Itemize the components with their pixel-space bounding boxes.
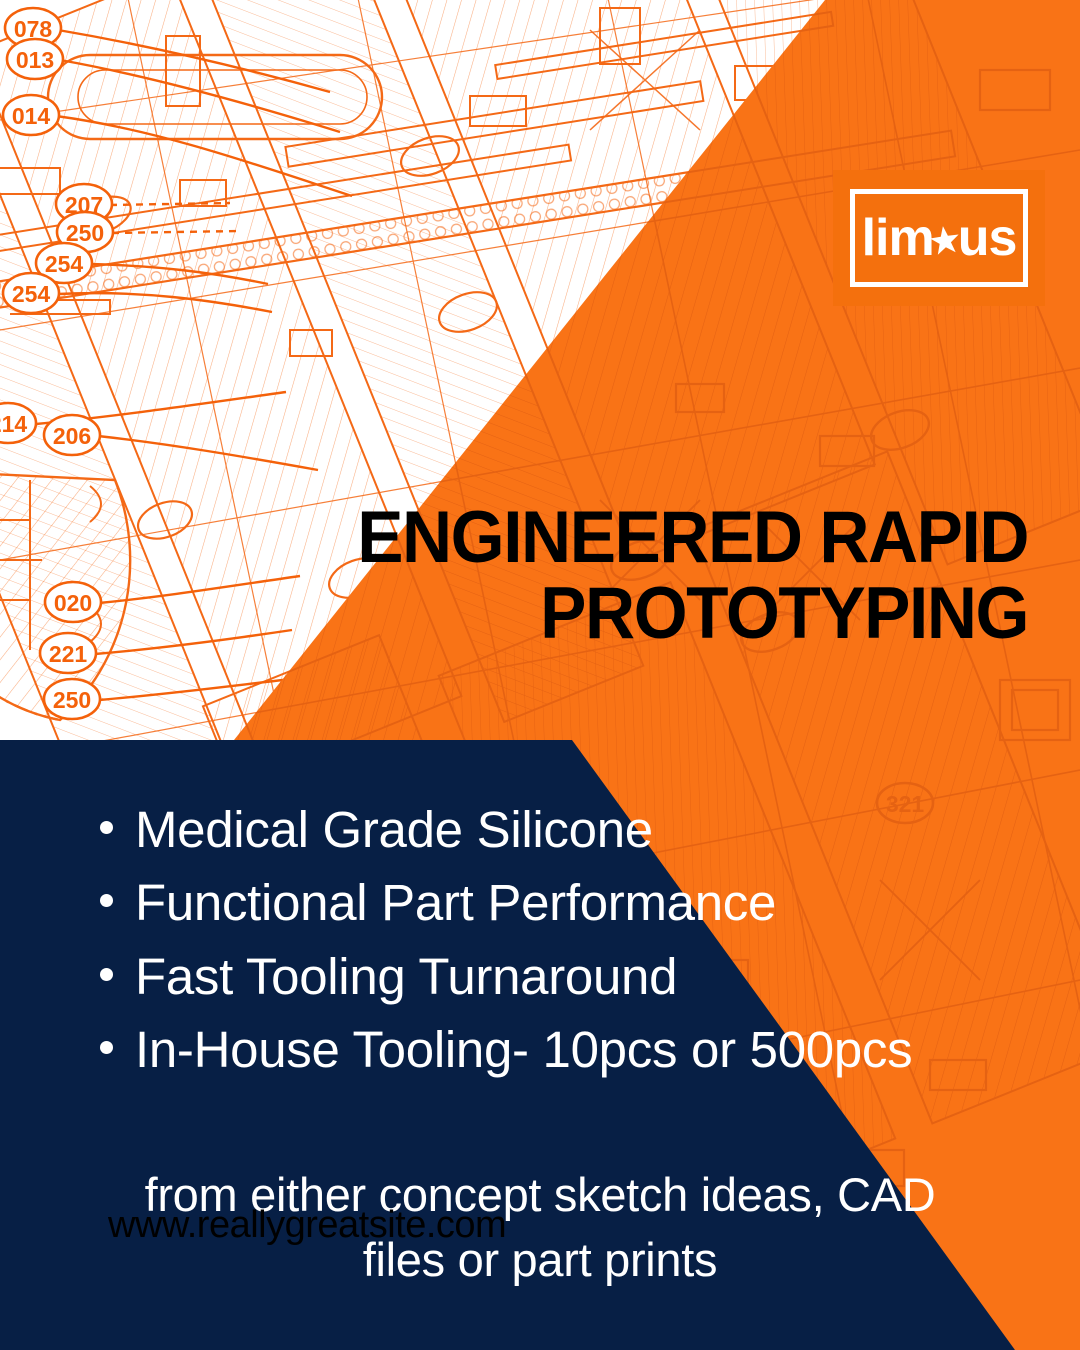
feature-list: Medical Grade Silicone Functional Part P… — [100, 793, 1060, 1087]
callout-label: 207 — [65, 192, 103, 218]
list-item: Medical Grade Silicone — [100, 793, 1060, 866]
list-item-label: Medical Grade Silicone — [135, 793, 653, 866]
callout-label: 206 — [53, 423, 91, 449]
logo-text-us: us — [958, 212, 1017, 264]
callout-label: 013 — [16, 47, 54, 73]
poster-canvas: 078 013 014 207 250 254 254 214 206 020 … — [0, 0, 1080, 1350]
logo-wordmark: lim us — [862, 212, 1017, 264]
callout-label: 214 — [0, 411, 27, 437]
logo-frame: lim us — [850, 189, 1028, 287]
website-url[interactable]: www.reallygreatsite.com — [108, 1206, 506, 1244]
callout-label: 221 — [49, 641, 88, 667]
callout-label: 020 — [54, 590, 92, 616]
logo-text-lim: lim — [862, 212, 934, 264]
callout-label: 250 — [53, 687, 91, 713]
brand-logo[interactable]: lim us — [833, 170, 1045, 306]
headline-line-2: PROTOTYPING — [336, 576, 1028, 652]
list-item: Fast Tooling Turnaround — [100, 940, 1060, 1013]
bullet-dot-icon — [100, 1041, 113, 1054]
callout-label: 014 — [12, 103, 51, 129]
bullet-dot-icon — [100, 894, 113, 907]
list-item: In-House Tooling- 10pcs or 500pcs — [100, 1013, 1060, 1086]
list-item-label: In-House Tooling- 10pcs or 500pcs — [135, 1013, 912, 1086]
list-item-label: Functional Part Performance — [135, 866, 776, 939]
headline-line-1: ENGINEERED RAPID — [336, 500, 1028, 576]
bullet-dot-icon — [100, 821, 113, 834]
callout-label: 254 — [12, 281, 51, 307]
list-item-label: Fast Tooling Turnaround — [135, 940, 677, 1013]
callout-label: 078 — [14, 16, 53, 42]
callout-label: 250 — [66, 220, 104, 246]
callout-label: 254 — [45, 251, 84, 277]
list-item: Functional Part Performance — [100, 866, 1060, 939]
page-title: ENGINEERED RAPID PROTOTYPING — [336, 500, 1028, 652]
bullet-dot-icon — [100, 968, 113, 981]
